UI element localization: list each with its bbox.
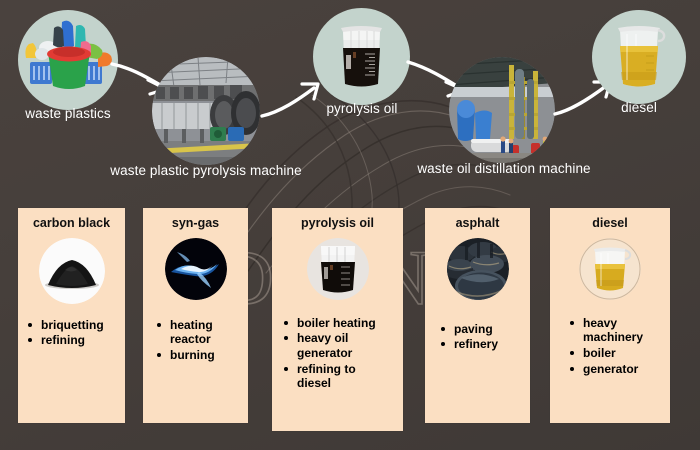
- flow-label-waste-plastics: waste plastics: [8, 106, 128, 121]
- product-use-item: boiler heating: [282, 316, 403, 331]
- product-use-item: refining to diesel: [282, 362, 377, 391]
- product-use-item: heavy machinery: [568, 316, 663, 345]
- product-use-item: heating reactor: [155, 318, 244, 347]
- flow-node-waste-plastics: waste plastics: [18, 10, 118, 110]
- product-uses-list: paving refinery: [439, 322, 530, 352]
- yellow-diesel-beaker-icon: [579, 238, 641, 300]
- distillation-plant-photo: [449, 57, 555, 163]
- product-card-title: syn-gas: [143, 217, 248, 231]
- product-card-title: carbon black: [18, 217, 125, 231]
- flow-node-distillation-machine: waste oil distillation machine: [449, 57, 555, 163]
- asphalt-drums-icon: [447, 238, 509, 300]
- blue-flame-gas-icon: [165, 238, 227, 300]
- product-use-item: refinery: [439, 337, 530, 352]
- dark-oil-beaker-icon: [313, 8, 410, 105]
- pyrolysis-oil-circle: [313, 8, 410, 105]
- carbon-black-powder-icon: [39, 238, 105, 304]
- flow-node-diesel: diesel: [592, 10, 686, 104]
- flow-label-pyrolysis-oil: pyrolysis oil: [307, 101, 417, 116]
- waste-plastics-bin-icon: [18, 10, 118, 110]
- product-card-syn-gas[interactable]: syn-gas heating reactor burning: [143, 208, 248, 423]
- product-card-carbon-black[interactable]: carbon black briquetting refining: [18, 208, 125, 423]
- product-use-item: boiler: [568, 346, 670, 361]
- dark-oil-beaker-icon: [307, 238, 369, 300]
- flow-node-pyrolysis-machine: waste plastic pyrolysis machine: [152, 57, 260, 165]
- product-use-item: briquetting: [26, 318, 125, 333]
- waste-plastics-circle: [18, 10, 118, 110]
- flow-label-pyrolysis-machine: waste plastic pyrolysis machine: [104, 163, 308, 178]
- flow-label-diesel: diesel: [604, 100, 674, 115]
- product-card-pyrolysis-oil[interactable]: pyrolysis oil: [272, 208, 403, 431]
- product-uses-list: heavy machinery boiler generator: [568, 316, 670, 377]
- product-uses-list: briquetting refining: [26, 318, 125, 348]
- product-use-item: refining: [26, 333, 125, 348]
- product-card-title: diesel: [550, 217, 670, 231]
- product-card-diesel[interactable]: diesel heavy machinery: [550, 208, 670, 423]
- infographic-canvas: DOING: [0, 0, 700, 450]
- pyrolysis-plant-photo: [152, 57, 260, 165]
- diesel-circle: [592, 10, 686, 104]
- yellow-diesel-beaker-icon: [592, 10, 686, 104]
- product-use-item: heavy oil generator: [282, 331, 375, 360]
- product-use-item: paving: [439, 322, 530, 337]
- product-card-title: pyrolysis oil: [272, 217, 403, 231]
- product-uses-list: boiler heating heavy oil generator refin…: [282, 316, 403, 391]
- product-uses-list: heating reactor burning: [155, 318, 248, 363]
- product-card-title: asphalt: [425, 217, 530, 231]
- flow-node-pyrolysis-oil: pyrolysis oil: [313, 8, 410, 105]
- flow-label-distillation-machine: waste oil distillation machine: [409, 161, 599, 176]
- product-card-asphalt[interactable]: asphalt: [425, 208, 530, 423]
- product-use-item: burning: [155, 348, 248, 363]
- product-use-item: generator: [568, 362, 670, 377]
- distillation-machine-circle: [449, 57, 555, 163]
- pyrolysis-machine-circle: [152, 57, 260, 165]
